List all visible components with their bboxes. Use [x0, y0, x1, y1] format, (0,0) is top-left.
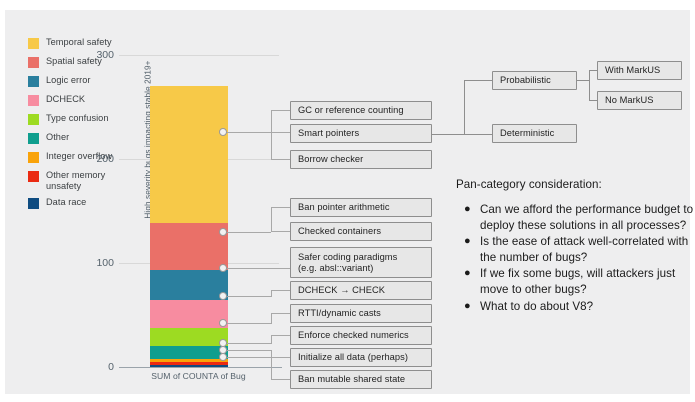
bullet-point-icon: ● [456, 266, 480, 282]
callout-label: Ban pointer arithmetic [298, 202, 390, 213]
bullet-point-icon: ● [456, 202, 480, 218]
bar-segment-spatial-safety[interactable] [150, 223, 228, 270]
tree-no-markus-h [589, 100, 597, 101]
pan-category-panel: Pan-category consideration: ● Can we aff… [456, 178, 694, 315]
legend-swatch-icon [28, 114, 39, 125]
legend-swatch-icon [28, 57, 39, 68]
tree-node-label: Probabilistic [500, 75, 551, 86]
tree-prob-split-v [589, 70, 590, 101]
tree-with-markus-h [589, 70, 597, 71]
bar-segment-data-race[interactable] [150, 365, 228, 367]
leader-line-banptr-h [271, 207, 290, 208]
leader-dot-dcheck[interactable] [219, 292, 227, 300]
leader-line-dcheck-h2 [271, 290, 290, 291]
leader-line-type-h [227, 323, 271, 324]
callout-label: Smart pointers [298, 128, 359, 139]
callout-label-wrap: Safer coding paradigms (e.g. absl::varia… [298, 252, 397, 274]
leader-dot-type-confusion[interactable] [219, 319, 227, 327]
callout-label-line2: (e.g. absl::variant) [298, 263, 373, 273]
bullet-text: Is the ease of attack well-correlated wi… [480, 234, 694, 265]
y-tick-label-100: 100 [96, 257, 114, 269]
callout-label: Initialize all data (perhaps) [298, 352, 408, 363]
legend-swatch-icon [28, 152, 39, 163]
slide-canvas: Temporal safety Spatial safety Logic err… [5, 10, 690, 394]
callout-label: DCHECK → CHECK [298, 285, 385, 296]
legend-swatch-icon [28, 171, 39, 182]
bar-segment-other[interactable] [150, 346, 228, 359]
panel-bullet-item: ● If we fix some bugs, will attackers ju… [456, 266, 694, 297]
tree-trunk-h [432, 134, 464, 135]
legend-swatch-icon [28, 38, 39, 49]
leader-line-memunsafe-h [227, 357, 271, 358]
callout-label: Checked containers [298, 226, 381, 237]
panel-bullet-item: ● Can we afford the performance budget t… [456, 202, 694, 233]
leader-line-other-h2 [271, 335, 290, 336]
tree-node-with-markus[interactable]: With MarkUS [597, 61, 682, 80]
bullet-text: If we fix some bugs, will attackers just… [480, 266, 694, 297]
tree-node-label: Deterministic [500, 128, 554, 139]
leader-line-dcheck-v [271, 290, 272, 297]
leader-dot-spatial-safety[interactable] [219, 228, 227, 236]
leader-line-intovf-h [227, 350, 271, 351]
leader-line-borrow-h [271, 159, 290, 160]
callout-gc-or-reference-counting[interactable]: GC or reference counting [290, 101, 432, 120]
leader-line-checked-h [271, 231, 290, 232]
callout-label: Enforce checked numerics [298, 330, 409, 341]
legend-swatch-icon [28, 198, 39, 209]
leader-line-type-h2 [271, 313, 290, 314]
tree-node-probabilistic[interactable]: Probabilistic [492, 71, 577, 90]
callout-ban-pointer-arithmetic[interactable]: Ban pointer arithmetic [290, 198, 432, 217]
tree-branch-det-h [464, 134, 492, 135]
legend-item-label: Temporal safety [46, 37, 112, 48]
legend-swatch-icon [28, 76, 39, 87]
bullet-point-icon: ● [456, 299, 480, 315]
callout-rtti-dynamic-casts[interactable]: RTTI/dynamic casts [290, 304, 432, 323]
leader-line-intovf-v [271, 350, 272, 357]
gridline-300: 300 [119, 55, 279, 56]
leader-line-gc-v [271, 110, 272, 133]
tree-branch-prob-h [464, 80, 492, 81]
callout-dcheck-to-check[interactable]: DCHECK → CHECK [290, 281, 432, 300]
bar-segment-dcheck[interactable] [150, 300, 228, 328]
callout-label: Safer coding paradigms [298, 252, 397, 262]
callout-label: Ban mutable shared state [298, 374, 405, 385]
bar-segment-logic-error[interactable] [150, 270, 228, 300]
legend-item-label: Data race [46, 197, 86, 208]
leader-line-temporal-h [227, 132, 290, 133]
tree-node-label: With MarkUS [605, 65, 660, 76]
callout-enforce-checked-numerics[interactable]: Enforce checked numerics [290, 326, 432, 345]
callout-label: Borrow checker [298, 154, 363, 165]
bullet-text: What to do about V8? [480, 299, 593, 315]
legend-item-label: Type confusion [46, 113, 109, 124]
callout-borrow-checker[interactable]: Borrow checker [290, 150, 432, 169]
leader-line-memunsafe-h2 [271, 379, 290, 380]
bar-segment-type-confusion[interactable] [150, 328, 228, 346]
leader-line-dcheck-h [227, 296, 271, 297]
bullet-point-icon: ● [456, 234, 480, 250]
leader-line-intovf-h2 [271, 357, 290, 358]
tree-node-label: No MarkUS [605, 95, 654, 106]
legend-swatch-icon [28, 133, 39, 144]
leader-line-type-v [271, 313, 272, 324]
leader-dot-temporal-safety[interactable] [219, 128, 227, 136]
leader-line-borrow-v [271, 132, 272, 159]
y-tick-label-200: 200 [96, 153, 114, 165]
callout-smart-pointers[interactable]: Smart pointers [290, 124, 432, 143]
leader-line-other-h [227, 343, 271, 344]
leader-line-logic-h [227, 268, 290, 269]
y-tick-label-300: 300 [96, 49, 114, 61]
legend-item-label: Logic error [46, 75, 90, 86]
leader-line-spatial-v [271, 207, 272, 232]
panel-title: Pan-category consideration: [456, 178, 694, 191]
callout-initialize-all-data[interactable]: Initialize all data (perhaps) [290, 348, 432, 367]
legend-swatch-icon [28, 95, 39, 106]
bullet-text: Can we afford the performance budget to … [480, 202, 694, 233]
slide-root: Temporal safety Spatial safety Logic err… [0, 0, 695, 402]
callout-label: GC or reference counting [298, 105, 404, 116]
leader-dot-other-memory-unsafety[interactable] [219, 353, 227, 361]
panel-bullet-item: ● What to do about V8? [456, 299, 694, 315]
callout-label: RTTI/dynamic casts [298, 308, 381, 319]
stacked-bar-column[interactable] [150, 86, 228, 367]
panel-bullet-item: ● Is the ease of attack well-correlated … [456, 234, 694, 265]
legend-item-label: Other [46, 132, 69, 143]
callout-ban-mutable-shared-state[interactable]: Ban mutable shared state [290, 370, 432, 389]
callout-checked-containers[interactable]: Checked containers [290, 222, 432, 241]
leader-line-other-v [271, 335, 272, 344]
x-axis-label: SUM of COUNTA of Bug [111, 371, 286, 381]
tree-node-deterministic[interactable]: Deterministic [492, 124, 577, 143]
tree-trunk-v [464, 80, 465, 135]
leader-dot-logic-error[interactable] [219, 264, 227, 272]
legend-item-label: DCHECK [46, 94, 85, 105]
callout-safer-coding-paradigms[interactable]: Safer coding paradigms (e.g. absl::varia… [290, 247, 432, 278]
leader-line-memunsafe-v [271, 357, 272, 379]
tree-prob-out-h [577, 80, 589, 81]
bar-segment-temporal-safety[interactable] [150, 86, 228, 223]
stacked-bar-chart: High severity bugs impacting stable 2019… [105, 30, 295, 385]
leader-line-gc-h [271, 110, 290, 111]
tree-node-no-markus[interactable]: No MarkUS [597, 91, 682, 110]
legend-item-label: Spatial safety [46, 56, 102, 67]
x-axis-baseline: 0 [119, 367, 282, 368]
leader-line-spatial-h [227, 232, 271, 233]
